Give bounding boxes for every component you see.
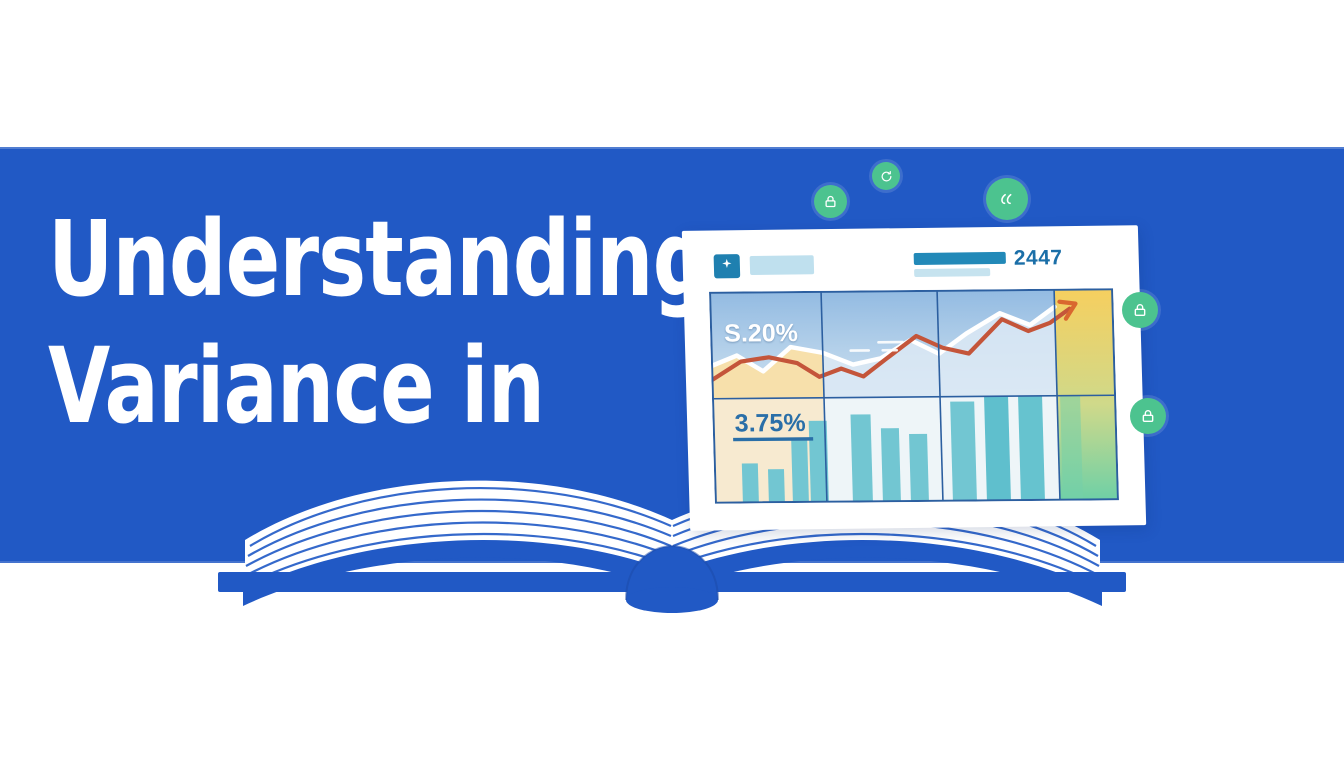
- meter-bar-primary: [914, 252, 1006, 265]
- chart-metric-bottom: 3.75%: [734, 409, 806, 439]
- sparkle-icon-chip: [714, 254, 741, 278]
- lock-icon: [1140, 408, 1156, 424]
- quote-icon-badge: [986, 178, 1028, 220]
- book-left-pages: [218, 481, 674, 606]
- header-placeholder-pill: [750, 255, 815, 275]
- infographic-banner: Understanding Variance in: [0, 0, 1344, 768]
- meter-bar-secondary: [914, 268, 990, 277]
- lock-icon-badge-2: [1122, 292, 1158, 328]
- sparkle-icon: [720, 257, 735, 276]
- chart-area: S.20% 3.75%: [709, 288, 1119, 503]
- lock-icon-badge-1: [814, 185, 847, 218]
- refresh-icon: [880, 170, 893, 183]
- open-book-illustration: [0, 0, 1344, 768]
- lock-icon-badge-3: [1130, 398, 1166, 434]
- metric-underline: [733, 439, 813, 440]
- chart-page-sheet: 2447: [686, 228, 1142, 528]
- refresh-icon-badge: [872, 162, 900, 190]
- chart-metric-top: S.20%: [724, 319, 798, 349]
- lock-icon: [823, 194, 838, 209]
- sheet-header-row: 2447: [714, 248, 1117, 287]
- meter-value-label: 2447: [1013, 246, 1062, 271]
- quote-icon: [998, 190, 1017, 209]
- lock-icon: [1132, 302, 1148, 318]
